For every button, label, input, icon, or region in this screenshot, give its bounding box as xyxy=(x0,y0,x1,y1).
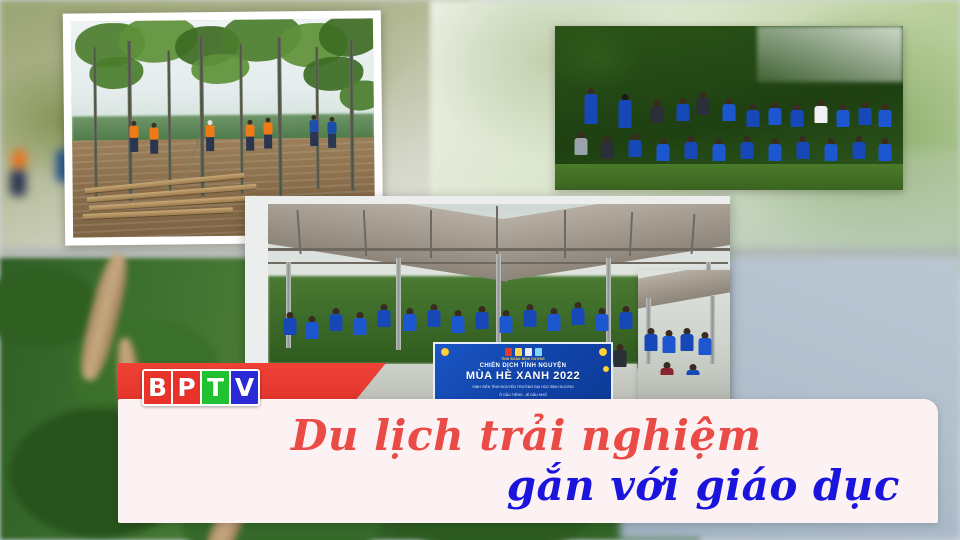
headline-line-1: Du lịch trải nghiệm xyxy=(291,411,762,460)
headline-line-2: gắn với giáo dục xyxy=(507,461,900,510)
broadcast-title-card: TỈNH ĐOÀN BÌNH DƯƠNG CHIẾN DỊCH TÌNH NGU… xyxy=(0,0,960,540)
lower-title-bar: Du lịch trải nghiệm gắn với giáo dục B P… xyxy=(0,355,960,540)
bptv-letter-v: V xyxy=(231,371,258,404)
bptv-letter-b: B xyxy=(144,371,173,404)
bptv-letter-p: P xyxy=(173,371,202,404)
title-panel: Du lịch trải nghiệm gắn với giáo dục xyxy=(118,399,938,523)
photo-volunteer-group xyxy=(555,26,903,190)
bptv-letter-t: T xyxy=(202,371,231,404)
bptv-channel-logo: B P T V xyxy=(142,369,260,406)
